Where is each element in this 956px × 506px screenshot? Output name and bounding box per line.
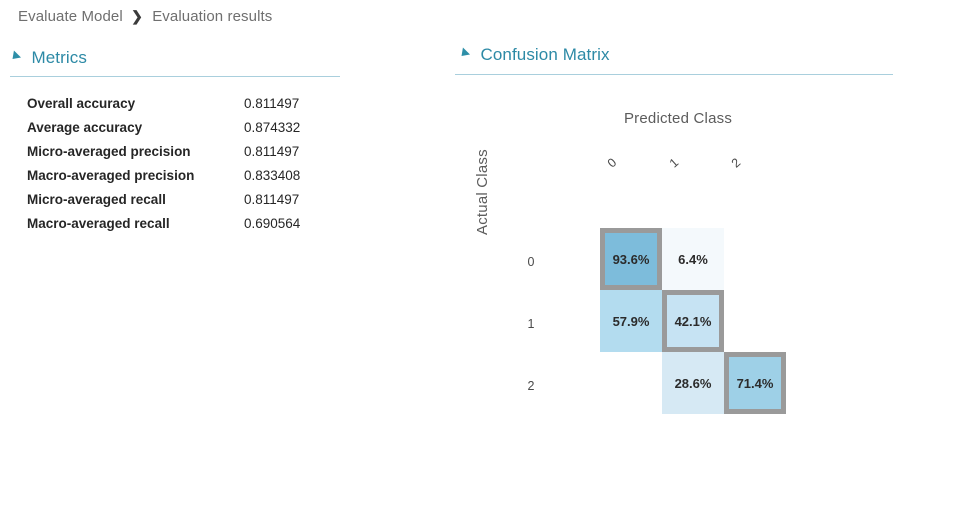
breadcrumb-item-evaluate-model[interactable]: Evaluate Model — [18, 8, 123, 25]
confusion-matrix-section-header[interactable]: Confusion Matrix — [459, 45, 610, 65]
y-tick-label-0: 0 — [523, 255, 539, 269]
metric-label: Macro-averaged precision — [27, 168, 244, 183]
confusion-matrix-chart: Predicted Class Actual Class 0 1 2 0 1 2… — [455, 80, 945, 480]
metric-label: Average accuracy — [27, 120, 244, 135]
metric-value: 0.811497 — [244, 144, 299, 159]
confusion-matrix-section-title: Confusion Matrix — [480, 45, 609, 65]
confusion-cell-0-1[interactable]: 6.4% — [662, 228, 724, 290]
metric-value: 0.690564 — [244, 216, 300, 231]
predicted-class-axis-label: Predicted Class — [618, 110, 738, 127]
metrics-table: Overall accuracy 0.811497 Average accura… — [27, 91, 300, 235]
table-row: Average accuracy 0.874332 — [27, 115, 300, 139]
metrics-section-divider — [10, 76, 340, 77]
x-tick-label-1: 1 — [663, 152, 684, 173]
metric-value: 0.811497 — [244, 192, 299, 207]
confusion-matrix-section-divider — [455, 74, 893, 75]
metric-label: Micro-averaged recall — [27, 192, 244, 207]
metric-label: Overall accuracy — [27, 96, 244, 111]
table-row: Macro-averaged precision 0.833408 — [27, 163, 300, 187]
table-row: Micro-averaged precision 0.811497 — [27, 139, 300, 163]
metric-value: 0.811497 — [244, 96, 299, 111]
x-tick-label-2: 2 — [725, 152, 746, 173]
breadcrumb: Evaluate Model ❯ Evaluation results — [18, 8, 272, 25]
table-row: Macro-averaged recall 0.690564 — [27, 211, 300, 235]
chevron-right-icon: ❯ — [131, 8, 143, 25]
confusion-cell-1-1[interactable]: 42.1% — [662, 290, 724, 352]
triangle-collapse-icon[interactable] — [458, 47, 470, 59]
confusion-cell-2-1[interactable]: 28.6% — [662, 352, 724, 414]
y-tick-label-1: 1 — [523, 317, 539, 331]
metrics-section-title: Metrics — [31, 48, 86, 68]
metric-label: Micro-averaged precision — [27, 144, 244, 159]
actual-class-axis-label: Actual Class — [474, 149, 491, 235]
table-row: Micro-averaged recall 0.811497 — [27, 187, 300, 211]
confusion-cell-0-0[interactable]: 93.6% — [600, 228, 662, 290]
metric-value: 0.874332 — [244, 120, 300, 135]
x-tick-label-0: 0 — [601, 152, 622, 173]
metrics-section-header[interactable]: Metrics — [10, 48, 87, 68]
metric-value: 0.833408 — [244, 168, 300, 183]
confusion-cell-1-0[interactable]: 57.9% — [600, 290, 662, 352]
table-row: Overall accuracy 0.811497 — [27, 91, 300, 115]
confusion-cell-2-2[interactable]: 71.4% — [724, 352, 786, 414]
breadcrumb-item-evaluation-results[interactable]: Evaluation results — [152, 8, 272, 25]
metric-label: Macro-averaged recall — [27, 216, 244, 231]
y-tick-label-2: 2 — [523, 379, 539, 393]
triangle-collapse-icon[interactable] — [9, 50, 21, 62]
